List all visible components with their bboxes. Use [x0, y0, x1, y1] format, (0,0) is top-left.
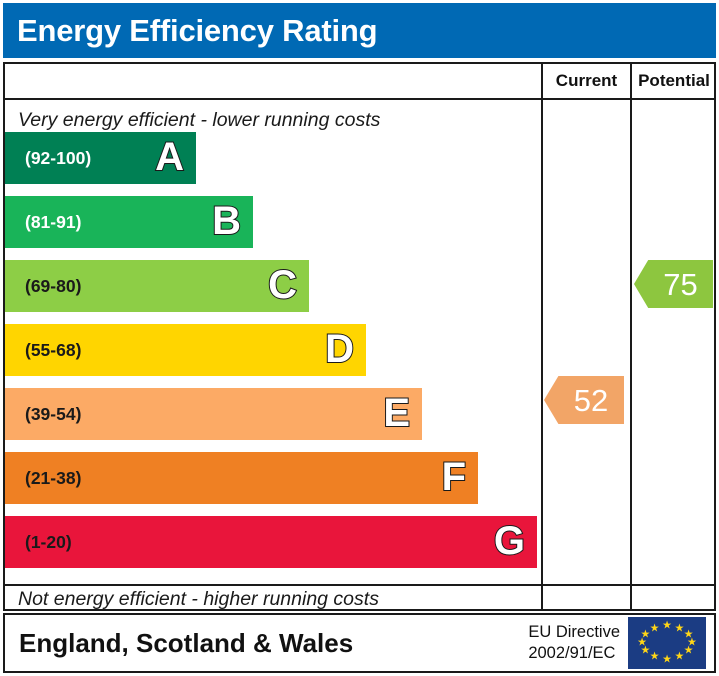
- eu-directive-text: EU Directive 2002/91/EC: [528, 622, 620, 663]
- band-letter-f: F: [442, 457, 466, 497]
- band-letter-c: C: [268, 265, 297, 305]
- band-letter-e: E: [383, 393, 410, 433]
- band-bar-g: (1-20)G: [5, 516, 537, 568]
- column-header-current: Current: [543, 64, 630, 98]
- column-divider-current: [541, 62, 543, 611]
- column-divider-potential: [630, 62, 632, 611]
- eu-flag-star: ★: [684, 646, 694, 657]
- current-rating-marker: 52: [544, 376, 624, 424]
- band-bar-c: (69-80)C: [5, 260, 309, 312]
- band-letter-b: B: [212, 201, 241, 241]
- caption-bottom: Not energy efficient - higher running co…: [18, 588, 379, 611]
- energy-efficiency-rating-chart: Energy Efficiency Rating Current Potenti…: [0, 0, 719, 676]
- caption-top: Very energy efficient - lower running co…: [18, 109, 380, 132]
- potential-rating-value: 75: [649, 269, 697, 300]
- column-header-potential: Potential: [632, 64, 716, 98]
- band-range-label-d: (55-68): [5, 340, 81, 361]
- band-bars: (92-100)A(81-91)B(69-80)C(55-68)D(39-54)…: [5, 132, 539, 582]
- band-bar-a: (92-100)A: [5, 132, 196, 184]
- potential-rating-marker: 75: [634, 260, 713, 308]
- footer-row-divider: [3, 584, 716, 586]
- band-range-label-c: (69-80): [5, 276, 81, 297]
- header-row-divider: [3, 98, 716, 100]
- eu-flag-icon: ★★★★★★★★★★★★: [628, 617, 706, 669]
- band-range-label-b: (81-91): [5, 212, 81, 233]
- band-range-label-a: (92-100): [5, 148, 91, 169]
- eu-directive-line2: 2002/91/EC: [528, 643, 620, 664]
- band-bar-e: (39-54)E: [5, 388, 422, 440]
- eu-flag-star: ★: [650, 623, 660, 634]
- band-letter-g: G: [494, 521, 525, 561]
- band-range-label-g: (1-20): [5, 532, 72, 553]
- footer-bar: England, Scotland & Wales EU Directive 2…: [3, 613, 716, 673]
- title-banner: Energy Efficiency Rating: [3, 3, 716, 58]
- band-range-label-f: (21-38): [5, 468, 81, 489]
- band-bar-b: (81-91)B: [5, 196, 253, 248]
- band-letter-a: A: [155, 137, 184, 177]
- band-bar-d: (55-68)D: [5, 324, 366, 376]
- band-letter-d: D: [325, 329, 354, 369]
- band-range-label-e: (39-54): [5, 404, 81, 425]
- band-bar-f: (21-38)F: [5, 452, 478, 504]
- page-title: Energy Efficiency Rating: [3, 13, 377, 49]
- current-rating-value: 52: [560, 385, 608, 416]
- footer-region-label: England, Scotland & Wales: [5, 628, 353, 659]
- footer-directive-group: EU Directive 2002/91/EC ★★★★★★★★★★★★: [528, 615, 706, 671]
- eu-flag-star: ★: [662, 621, 672, 632]
- eu-flag-star: ★: [650, 652, 660, 663]
- eu-flag-star: ★: [662, 654, 672, 665]
- eu-flag-star: ★: [675, 652, 685, 663]
- eu-directive-line1: EU Directive: [528, 622, 620, 643]
